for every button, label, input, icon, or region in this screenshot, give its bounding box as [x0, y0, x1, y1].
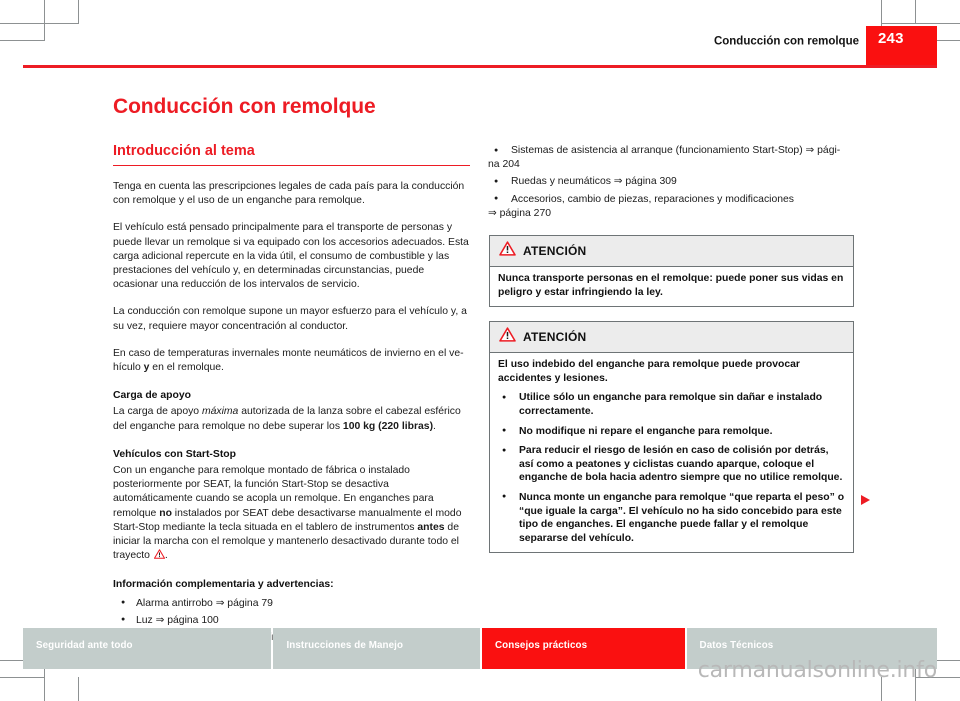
- page-number: 243: [878, 31, 904, 46]
- section-title: Introducción al tema: [113, 144, 470, 166]
- list-item: Para reducir el riesgo de lesión en caso…: [498, 444, 845, 485]
- text-run-bold: no: [159, 508, 172, 519]
- watermark: carmanualsonline.info: [698, 658, 937, 683]
- list-item-text: Accesorios, cambio de piezas, reparacion…: [511, 194, 794, 205]
- list-item-text: Ruedas y neumáticos ⇒ página 309: [511, 176, 677, 187]
- paragraph: Tenga en cuenta las prescripciones legal…: [113, 180, 470, 208]
- warning-box-intro: Nunca transporte personas en el remolque…: [498, 272, 845, 299]
- continuation-arrow-icon: [861, 495, 870, 505]
- list-item: No modifique ni repare el enganche para …: [498, 425, 845, 439]
- warning-box-intro: El uso indebido del enganche para remolq…: [498, 358, 845, 385]
- crop-mark: [78, 677, 79, 701]
- warning-box: ATENCIÓN El uso indebido del enganche pa…: [489, 321, 854, 553]
- list-item[interactable]: Accesorios, cambio de piezas, reparacion…: [489, 193, 854, 221]
- list-item[interactable]: Sistemas de asistencia al arranque (func…: [489, 144, 854, 172]
- cross-reference-list: Sistemas de asistencia al arranque (func…: [489, 144, 854, 221]
- paragraph: La conducción con remolque supone un may…: [113, 305, 470, 333]
- list-item-text: Sistemas de asistencia al arranque (func…: [511, 145, 840, 156]
- text-run: La carga de apoyo: [113, 406, 202, 417]
- paragraph-start-stop: Con un enganche para remolque montado de…: [113, 464, 470, 563]
- warning-box-title: ATENCIÓN: [523, 244, 586, 258]
- list-item: Nunca monte un enganche para remolque “q…: [498, 491, 845, 545]
- text-run-bold: 100 kg (220 libras): [343, 421, 433, 432]
- footer-tab-instrucciones-de-manejo[interactable]: Instrucciones de Manejo: [273, 628, 480, 669]
- paragraph-carga-de-apoyo: La carga de apoyo máxima autorizada de l…: [113, 405, 470, 433]
- manual-page: Conducción con remolque 243 Conducción c…: [0, 0, 960, 701]
- subsection-heading-carga-de-apoyo: Carga de apoyo: [113, 389, 470, 403]
- left-column: Conducción con remolque Introducción al …: [113, 96, 470, 645]
- warning-triangle-icon: [154, 549, 165, 559]
- right-column: Sistemas de asistencia al arranque (func…: [489, 140, 854, 553]
- footer-tab-seguridad-ante-todo[interactable]: Seguridad ante todo: [23, 628, 271, 669]
- list-item: Utilice sólo un enganche para remolque s…: [498, 391, 845, 418]
- footer-tab-label: Seguridad ante todo: [36, 640, 133, 651]
- footer-tab-label: Consejos prácticos: [495, 640, 587, 651]
- warning-box: ATENCIÓN Nunca transporte personas en el…: [489, 235, 854, 307]
- warning-triangle-icon: [499, 327, 516, 347]
- footer-tab-label: Instrucciones de Manejo: [286, 640, 403, 651]
- text-run: .: [433, 421, 436, 432]
- warning-box-body: El uso indebido del enganche para remolq…: [490, 353, 853, 552]
- text-run-italic: máxima: [202, 406, 238, 417]
- footer-tab-label: Datos Técnicos: [700, 640, 774, 651]
- header-rule: [23, 65, 937, 68]
- warning-box-header: ATENCIÓN: [490, 236, 853, 267]
- warning-box-body: Nunca transporte personas en el remolque…: [490, 267, 853, 306]
- list-item[interactable]: Alarma antirrobo ⇒ página 79: [113, 597, 470, 611]
- warning-triangle-icon: [499, 241, 516, 261]
- footer-tab-consejos-practicos[interactable]: Consejos prácticos: [482, 628, 685, 669]
- crop-mark: [881, 23, 960, 24]
- text-run: .: [165, 550, 168, 561]
- crop-mark: [44, 0, 45, 41]
- page-title: Conducción con remolque: [113, 96, 470, 118]
- text-run: en el remolque.: [149, 362, 224, 373]
- paragraph: El vehículo está pensado principalmente …: [113, 221, 470, 292]
- subsection-heading-start-stop: Vehículos con Start-Stop: [113, 448, 470, 462]
- list-item[interactable]: Luz ⇒ página 100: [113, 614, 470, 628]
- crop-mark: [0, 40, 45, 41]
- warning-box-header: ATENCIÓN: [490, 322, 853, 353]
- crop-mark: [78, 0, 79, 24]
- header-chapter-title: Conducción con remolque: [714, 37, 859, 49]
- list-item-continuation: na 204: [488, 158, 854, 172]
- text-run-bold: antes: [417, 522, 444, 533]
- crop-mark: [915, 0, 916, 24]
- list-item[interactable]: Ruedas y neumáticos ⇒ página 309: [489, 175, 854, 189]
- warning-box-list: Utilice sólo un enganche para remolque s…: [498, 391, 845, 545]
- crop-mark: [0, 677, 45, 678]
- paragraph-winter-tyres: En caso de temperaturas invernales monte…: [113, 347, 470, 375]
- crop-mark: [0, 23, 79, 24]
- more-info-heading: Información complementaria y advertencia…: [113, 578, 470, 592]
- warning-box-title: ATENCIÓN: [523, 330, 586, 344]
- list-item-continuation: ⇒ página 270: [488, 207, 854, 221]
